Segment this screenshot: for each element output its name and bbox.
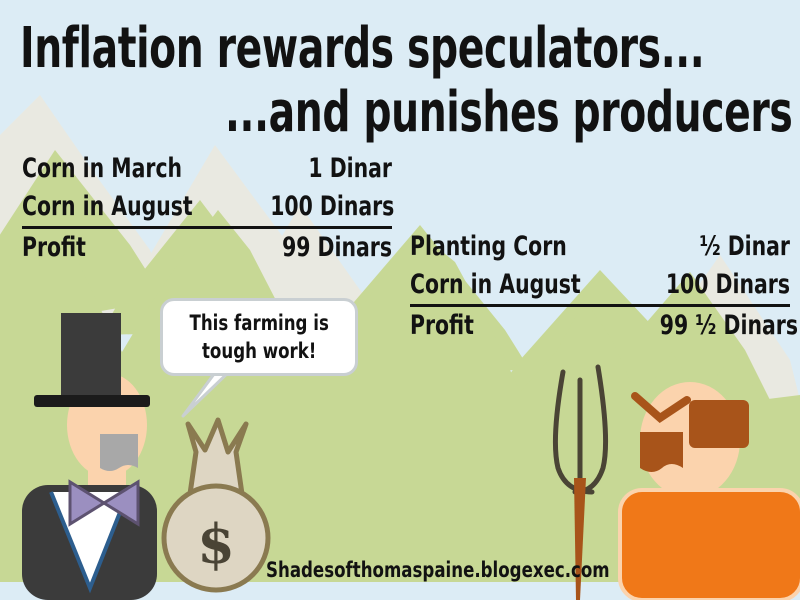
- site-url-text: Shadesofthomaspaine.blogexec.com: [266, 558, 610, 582]
- ledger-value: 1 Dinar: [270, 150, 392, 188]
- ledger-label: Profit: [410, 307, 599, 345]
- infographic-poster: $ This farming: [0, 0, 800, 600]
- money-bag-dollar-sign: $: [197, 512, 235, 576]
- speech-bubble-text: This farming is tough work!: [189, 309, 328, 365]
- ledger-value: 100 Dinars: [270, 188, 392, 226]
- ledger-row: Corn in March 1 Dinar: [22, 150, 392, 188]
- ledger-row: Planting Corn ½ Dinar: [410, 228, 790, 266]
- ledger-label: Corn in August: [410, 266, 599, 304]
- headline-line-1: Inflation rewards speculators...: [20, 16, 704, 81]
- speech-bubble: This farming is tough work!: [160, 298, 358, 376]
- ledger-value: 99 Dinars: [270, 229, 392, 267]
- farmer-hair-patch-right: [689, 400, 749, 448]
- ledger-label: Corn in March: [22, 150, 211, 188]
- ledger-label: Corn in August: [22, 188, 211, 226]
- ledger-row-total: Profit 99 Dinars: [22, 229, 392, 267]
- ledger-row-total: Profit 99 ½ Dinars: [410, 307, 790, 345]
- ledger-row: Corn in August 100 Dinars: [22, 188, 392, 229]
- ledger-row: Corn in August 100 Dinars: [410, 266, 790, 307]
- ledger-label: Profit: [22, 229, 211, 267]
- speculator-ledger: Corn in March 1 Dinar Corn in August 100…: [22, 150, 392, 267]
- ledger-label: Planting Corn: [410, 228, 599, 266]
- ledger-value: ½ Dinar: [660, 228, 790, 266]
- speculator-beard: [100, 434, 138, 471]
- ledger-value: 99 ½ Dinars: [660, 307, 790, 345]
- farmer-shirt: [620, 490, 800, 600]
- top-hat-crown: [61, 313, 121, 395]
- top-hat-brim: [34, 395, 150, 407]
- ledger-value: 100 Dinars: [660, 266, 790, 304]
- headline-line-2: ...and punishes producers: [225, 80, 792, 145]
- producer-ledger: Planting Corn ½ Dinar Corn in August 100…: [410, 228, 790, 345]
